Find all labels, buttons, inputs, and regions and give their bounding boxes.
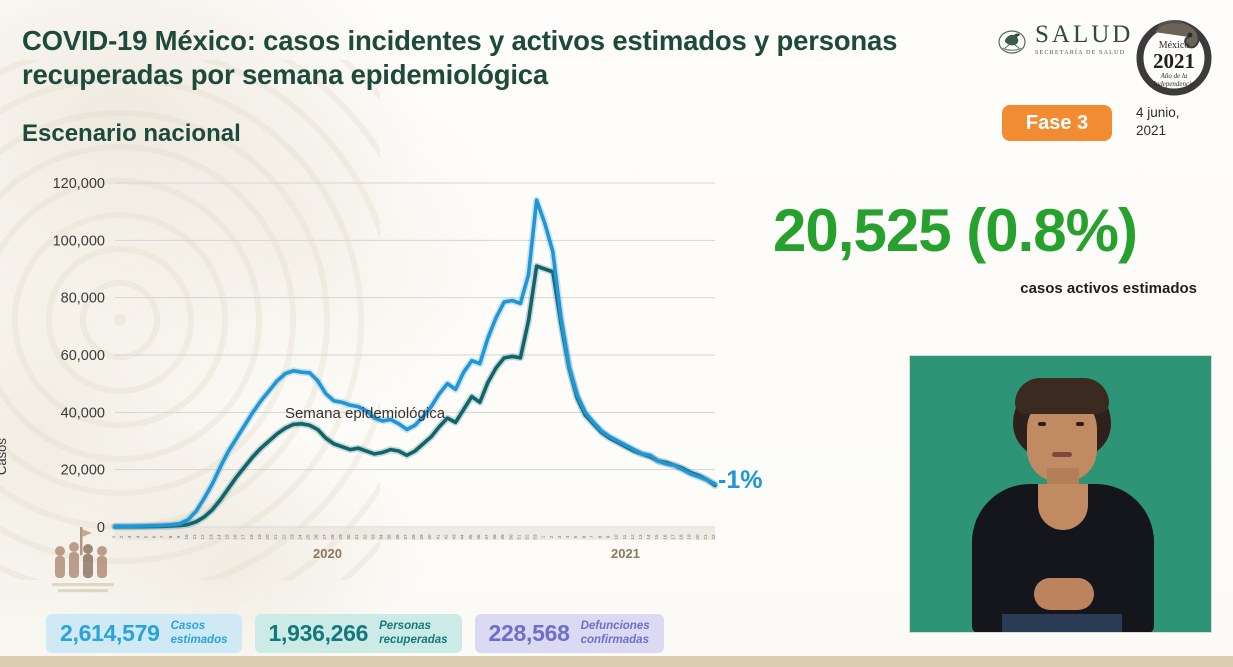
header: COVID-19 México: casos incidentes y acti… [0,0,1233,160]
svg-text:51: 51 [516,534,521,540]
chart-series-lines [115,200,715,527]
svg-text:39: 39 [419,534,424,540]
svg-text:14: 14 [646,534,651,540]
svg-text:9: 9 [176,535,181,538]
svg-text:36: 36 [395,534,400,540]
svg-text:22: 22 [281,534,286,540]
svg-text:2: 2 [549,535,554,538]
svg-text:12: 12 [630,534,635,540]
svg-text:21: 21 [703,534,708,540]
svg-text:5: 5 [573,535,578,538]
svg-text:49: 49 [500,534,505,540]
svg-text:13: 13 [638,534,643,540]
svg-text:14: 14 [216,534,221,540]
svg-text:15: 15 [225,534,230,540]
svg-text:32: 32 [362,534,367,540]
svg-text:2021: 2021 [1153,49,1195,73]
sign-language-interpreter-video[interactable] [909,355,1212,633]
svg-text:45: 45 [468,534,473,540]
svg-text:11: 11 [622,534,627,539]
svg-text:27: 27 [322,534,327,540]
phase-badge: Fase 3 [1002,105,1112,141]
stat-personas-recuperadas-value: 1,936,266 [269,620,369,647]
stat-personas-recuperadas-label: Personas recuperadas [379,620,447,648]
svg-text:22: 22 [711,534,716,540]
date-line-2: 2021 [1136,122,1216,140]
date-line-1: 4 junio, [1136,104,1216,122]
svg-text:6: 6 [581,535,586,538]
svg-text:4: 4 [565,535,570,538]
interpreter-eye-left [1038,422,1046,426]
svg-text:3: 3 [127,535,132,538]
svg-text:16: 16 [662,534,667,540]
svg-text:23: 23 [289,534,294,540]
svg-text:8: 8 [168,535,173,538]
chart-year-label-2021: 2021 [611,546,640,561]
svg-text:25: 25 [306,534,311,540]
svg-text:5: 5 [143,535,148,538]
svg-text:43: 43 [452,534,457,540]
salud-logo: SALUD SECRETARÍA DE SALUD [996,22,1133,56]
svg-text:41: 41 [435,534,440,540]
svg-text:30: 30 [346,534,351,540]
svg-text:Independencia: Independencia [1152,80,1195,88]
salud-secretaria-label: SECRETARÍA DE SALUD [1035,50,1133,56]
footer-bar [0,656,1233,667]
stat-casos-estimados: 2,614,579 Casos estimados [46,614,242,653]
svg-text:19: 19 [687,534,692,540]
stat-defunciones-confirmadas: 228,568 Defunciones confirmadas [475,614,664,653]
svg-text:38: 38 [411,534,416,540]
svg-text:9: 9 [606,535,611,538]
stat-label-line2: confirmadas [581,634,649,646]
svg-text:26: 26 [314,534,319,540]
svg-text:16: 16 [233,534,238,540]
independencia-watermark-icon [44,525,122,597]
svg-text:28: 28 [330,534,335,540]
page-title: COVID-19 México: casos incidentes y acti… [22,24,922,91]
stat-casos-estimados-label: Casos estimados [171,620,228,648]
svg-text:40: 40 [427,534,432,540]
stat-label-line1: Defunciones [581,620,650,632]
svg-text:50: 50 [508,534,513,540]
svg-text:46: 46 [476,534,481,540]
svg-text:42: 42 [443,534,448,540]
svg-text:31: 31 [354,534,359,540]
summary-stats-bar: 2,614,579 Casos estimados 1,936,266 Pers… [46,614,664,653]
chart-y-tick-labels: 020,00040,00060,00080,000100,000120,000 [53,176,105,536]
svg-text:35: 35 [387,534,392,540]
svg-text:7: 7 [160,535,165,538]
svg-text:33: 33 [370,534,375,540]
svg-text:4: 4 [135,535,140,538]
svg-text:40,000: 40,000 [61,405,105,421]
salud-text: SALUD SECRETARÍA DE SALUD [1035,22,1133,56]
date-label: 4 junio, 2021 [1136,104,1216,140]
svg-text:20: 20 [695,534,700,540]
stat-label-line1: Personas [379,620,431,632]
chart-x-tick-labels: 1234567891011121314151617181920212223242… [111,528,716,540]
chart-x-axis-title: Semana epidemiológica [205,405,525,422]
stat-defunciones-label: Defunciones confirmadas [581,620,650,648]
svg-text:15: 15 [654,534,659,540]
mexico-coat-of-arms-icon [996,22,1028,56]
svg-text:3: 3 [557,535,562,538]
active-cases-headline: 20,525 (0.8%) [705,196,1205,265]
interpreter-fringe [1015,378,1109,414]
svg-text:53: 53 [533,534,538,540]
svg-text:11: 11 [192,534,197,539]
svg-text:12: 12 [200,534,205,540]
svg-text:100,000: 100,000 [53,233,105,249]
stat-label-line2: recuperadas [379,634,447,646]
svg-text:60,000: 60,000 [61,348,105,364]
svg-text:44: 44 [460,534,465,540]
chart-y-axis-title: Casos [0,438,9,475]
stat-personas-recuperadas: 1,936,266 Personas recuperadas [255,614,462,653]
svg-text:17: 17 [241,534,246,540]
svg-text:24: 24 [297,534,302,540]
svg-text:80,000: 80,000 [61,291,105,307]
svg-text:18: 18 [679,534,684,540]
chart-year-label-2020: 2020 [313,546,342,561]
svg-text:8: 8 [597,535,602,538]
svg-text:20,000: 20,000 [61,463,105,479]
interpreter-eye-right [1076,422,1084,426]
svg-text:52: 52 [525,534,530,540]
svg-text:6: 6 [152,535,157,538]
svg-text:7: 7 [589,535,594,538]
stat-defunciones-value: 228,568 [489,620,570,647]
salud-wordmark: SALUD [1035,22,1133,47]
svg-text:13: 13 [208,534,213,540]
svg-text:34: 34 [379,534,384,540]
seal-2021-independencia-icon: México 2021 Año de la Independencia [1128,8,1220,100]
chart-gridlines [115,183,715,527]
stat-label-line2: estimados [171,634,228,646]
svg-text:48: 48 [492,534,497,540]
interpreter-mouth [1052,452,1072,457]
weekly-change-label: -1% [718,466,762,495]
svg-text:21: 21 [273,534,278,540]
stat-label-line1: Casos [171,620,206,632]
svg-text:37: 37 [403,534,408,540]
svg-text:19: 19 [257,534,262,540]
svg-text:29: 29 [338,534,343,540]
svg-text:10: 10 [614,534,619,540]
svg-text:20: 20 [265,534,270,540]
svg-text:120,000: 120,000 [53,176,105,192]
stat-casos-estimados-value: 2,614,579 [60,620,160,647]
interpreter-hands [1034,578,1094,610]
svg-text:Año de la: Año de la [1160,72,1188,80]
page-subtitle: Escenario nacional [22,120,241,148]
active-cases-caption: casos activos estimados [705,280,1205,297]
svg-text:18: 18 [249,534,254,540]
svg-text:1: 1 [541,535,546,538]
svg-text:10: 10 [184,534,189,540]
interpreter-jeans [1002,614,1122,633]
svg-text:17: 17 [670,534,675,540]
svg-text:47: 47 [484,534,489,540]
